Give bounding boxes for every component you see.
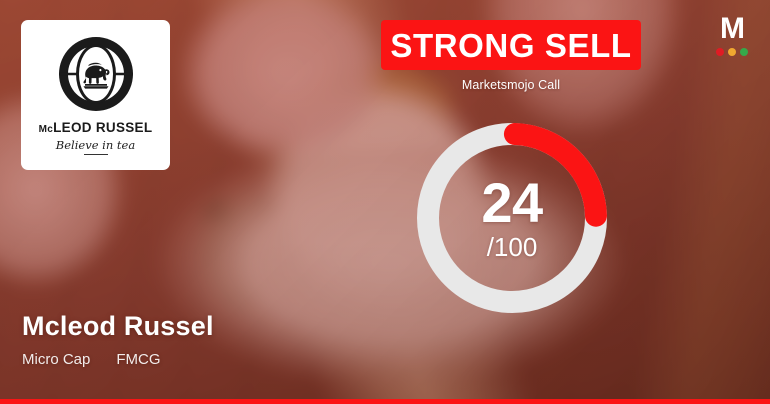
- company-name: Mcleod Russel: [22, 312, 214, 342]
- call-label: STRONG SELL: [390, 29, 631, 62]
- marketsmojo-m-icon: M: [720, 14, 744, 44]
- call-banner: STRONG SELL: [381, 20, 641, 70]
- stock-call-card: McLEOD RUSSEL Believe in tea STRONG SELL…: [0, 0, 770, 404]
- marketsmojo-dots: [716, 48, 748, 56]
- dot-orange-icon: [728, 48, 736, 56]
- dot-red-icon: [716, 48, 724, 56]
- company-logo-card: McLEOD RUSSEL Believe in tea: [21, 20, 170, 170]
- company-tags: Micro Cap FMCG: [22, 351, 214, 368]
- company-info: Mcleod Russel Micro Cap FMCG: [22, 312, 214, 368]
- company-logo-name-prefix: Mc: [39, 124, 54, 135]
- elephant-icon: [59, 37, 133, 111]
- company-logo-name: McLEOD RUSSEL: [39, 120, 153, 135]
- market-cap-tag: Micro Cap: [22, 351, 90, 368]
- marketsmojo-logo: M: [710, 14, 754, 56]
- bottom-accent-rule: [0, 399, 770, 404]
- call-source-label: Marketsmojo Call: [381, 78, 641, 92]
- score-gauge: 24 /100: [412, 118, 612, 318]
- call-section: STRONG SELL Marketsmojo Call: [381, 20, 641, 92]
- company-logo-name-main: LEOD RUSSEL: [53, 120, 152, 135]
- score-readout: 24 /100: [412, 118, 612, 318]
- score-value: 24: [481, 176, 542, 229]
- dot-green-icon: [740, 48, 748, 56]
- sector-tag: FMCG: [116, 351, 160, 368]
- score-out-of: /100: [487, 234, 538, 260]
- company-logo-tagline: Believe in tea: [56, 138, 135, 152]
